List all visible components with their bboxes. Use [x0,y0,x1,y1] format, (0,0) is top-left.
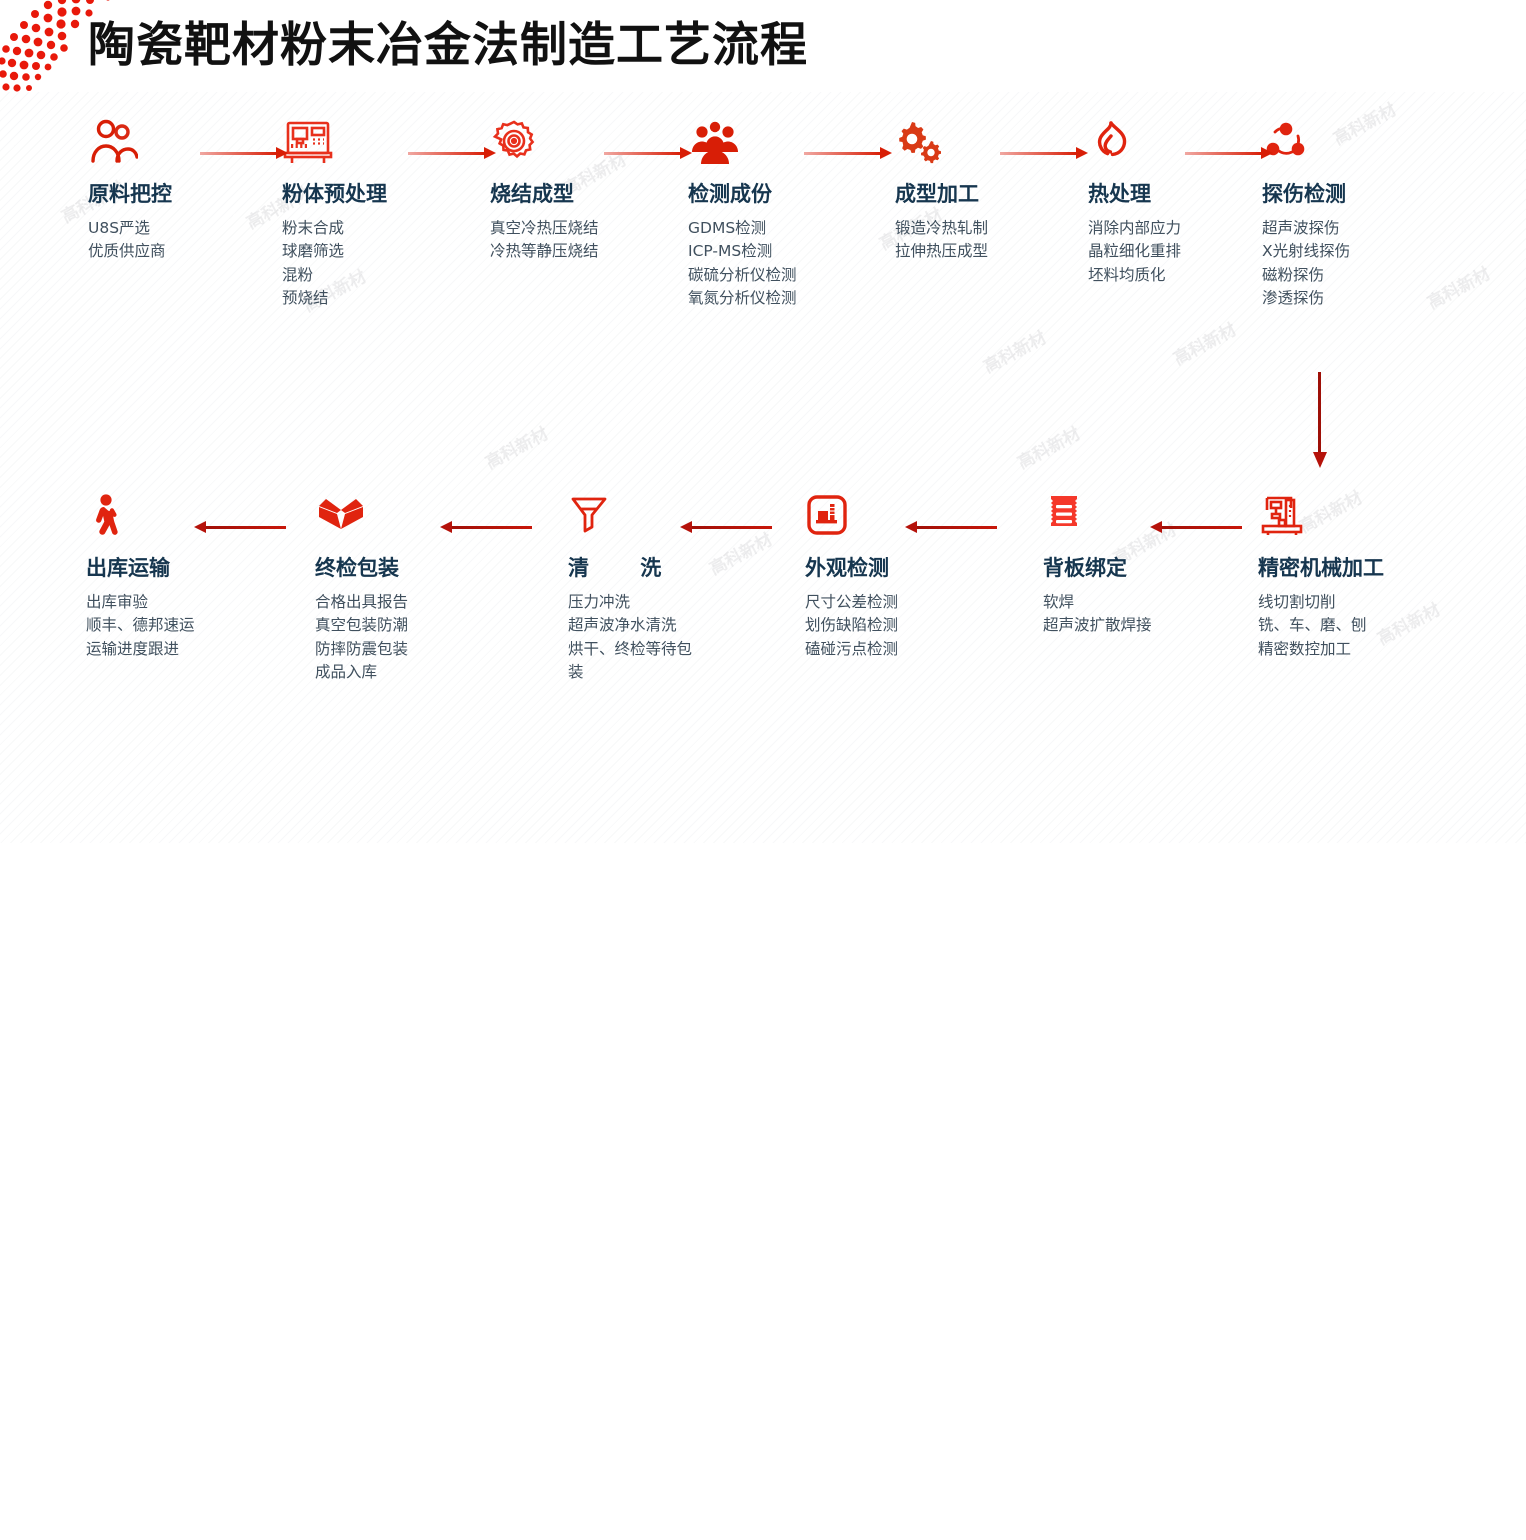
detail-line: 成品入库 [315,661,490,684]
flow-step-title: 背板绑定 [1043,552,1223,582]
flow-step-10[interactable]: 外观检测 尺寸公差检测 划伤缺陷检测 磕碰污点检测 [805,492,985,661]
detail-line: 消除内部应力 [1088,217,1258,240]
detail-line: 精密数控加工 [1258,638,1458,661]
flow-step-3[interactable]: 烧结成型 真空冷热压烧结 冷热等静压烧结 [490,118,690,264]
flow-step-title: 原料把控 [88,178,268,208]
detail-line: 烘干、终检等待包装 [568,638,696,685]
flow-arrow-12-13 [194,521,286,535]
detail-line: 运输进度跟进 [86,638,256,661]
flow-step-details: 合格出具报告 真空包装防潮 防摔防震包装 成品入库 [315,591,490,684]
detail-line: 真空包装防潮 [315,614,490,637]
flow-step-title: 探伤检测 [1262,178,1432,208]
flow-step-title: 检测成份 [688,178,878,208]
background-swoosh [0,255,1526,1505]
flow-step-title: 清 洗 [568,552,743,582]
flow-step-title: 终检包装 [315,552,490,582]
detail-line: 顺丰、德邦速运 [86,614,256,637]
detail-line: 氧氮分析仪检测 [688,287,878,310]
flow-arrow-3-4 [604,147,692,161]
background-swoosh-secondary [0,640,1526,1540]
detail-line: U8S严选 [88,217,268,240]
detail-line: 锻造冷热轧制 [895,217,1075,240]
flow-arrow-4-5 [804,147,892,161]
flow-step-details: 尺寸公差检测 划伤缺陷检测 磕碰污点检测 [805,591,985,661]
detail-line: 渗透探伤 [1262,287,1432,310]
detail-line: 碳硫分析仪检测 [688,264,878,287]
detail-line: 优质供应商 [88,240,268,263]
detail-line: 拉伸热压成型 [895,240,1075,263]
detail-line: ICP-MS检测 [688,240,878,263]
detail-line: 磁粉探伤 [1262,264,1432,287]
flow-arrow-6-7 [1185,147,1273,161]
detail-line: X光射线探伤 [1262,240,1432,263]
flow-step-details: 压力冲洗 超声波净水清洗 烘干、终检等待包装 [568,591,743,684]
flow-step-details: U8S严选 优质供应商 [88,217,268,264]
flow-step-title: 热处理 [1088,178,1258,208]
flow-arrow-5-6 [1000,147,1088,161]
detail-line: 出库审验 [86,591,256,614]
detail-line: 球磨筛选 [282,240,472,263]
detail-line: 晶粒细化重排 [1088,240,1258,263]
detail-line: 超声波扩散焊接 [1043,614,1223,637]
flow-step-title: 成型加工 [895,178,1075,208]
flow-step-5[interactable]: 成型加工 锻造冷热轧制 拉伸热压成型 [895,118,1075,264]
detail-line: 划伤缺陷检测 [805,614,985,637]
detail-line: 真空冷热压烧结 [490,217,690,240]
detail-line: 磕碰污点检测 [805,638,985,661]
flow-arrow-10-11 [680,521,772,535]
three-dots-circle-icon [1262,118,1432,166]
flow-step-title: 外观检测 [805,552,985,582]
flow-step-8[interactable]: 精密机械加工 线切割切削 铣、车、磨、刨 精密数控加工 [1258,492,1458,661]
flow-step-details: 真空冷热压烧结 冷热等静压烧结 [490,217,690,264]
flow-step-6[interactable]: 热处理 消除内部应力 晶粒细化重排 坯料均质化 [1088,118,1258,287]
flow-step-1[interactable]: 原料把控 U8S严选 优质供应商 [88,118,268,264]
flow-step-details: 消除内部应力 晶粒细化重排 坯料均质化 [1088,217,1258,287]
flow-step-13[interactable]: 出库运输 出库审验 顺丰、德邦速运 运输进度跟进 [86,492,256,661]
detail-line: 混粉 [282,264,472,287]
flow-step-title: 粉体预处理 [282,178,472,208]
flow-step-title: 烧结成型 [490,178,690,208]
detail-line: GDMS检测 [688,217,878,240]
detail-line: 合格出具报告 [315,591,490,614]
detail-line: 防摔防震包装 [315,638,490,661]
flow-step-details: 线切割切削 铣、车、磨、刨 精密数控加工 [1258,591,1458,661]
flow-step-details: 软焊 超声波扩散焊接 [1043,591,1223,638]
flow-arrow-9-10 [905,521,997,535]
flow-arrow-2-3 [408,147,496,161]
detail-line: 铣、车、磨、刨 [1258,614,1458,637]
detail-line: 冷热等静压烧结 [490,240,690,263]
watermark: 高科新材 [1012,420,1084,474]
detail-line: 粉末合成 [282,217,472,240]
detail-line: 尺寸公差检测 [805,591,985,614]
detail-line: 超声波净水清洗 [568,614,743,637]
flow-row-bottom: 精密机械加工 线切割切削 铣、车、磨、刨 精密数控加工 背板绑定 软焊 超声波扩… [0,492,1526,722]
flow-arrow-11-12 [440,521,532,535]
flow-arrow-8-9 [1150,521,1242,535]
detail-line: 坯料均质化 [1088,264,1258,287]
cnc-machine-icon [1258,492,1458,540]
detail-line: 压力冲洗 [568,591,743,614]
detail-line: 预烧结 [282,287,472,310]
flow-step-details: 锻造冷热轧制 拉伸热压成型 [895,217,1075,264]
detail-line: 超声波探伤 [1262,217,1432,240]
flow-step-details: 粉末合成 球磨筛选 混粉 预烧结 [282,217,472,310]
detail-line: 软焊 [1043,591,1223,614]
flow-step-details: 出库审验 顺丰、德邦速运 运输进度跟进 [86,591,256,661]
flow-step-9[interactable]: 背板绑定 软焊 超声波扩散焊接 [1043,492,1223,638]
flow-arrow-row-connector [1313,372,1327,468]
flow-row-top: 原料把控 U8S严选 优质供应商 [0,118,1526,348]
detail-line: 线切割切削 [1258,591,1458,614]
flow-arrow-1-2 [200,147,288,161]
flow-step-7[interactable]: 探伤检测 超声波探伤 X光射线探伤 磁粉探伤 渗透探伤 [1262,118,1432,310]
flow-step-title: 出库运输 [86,552,256,582]
watermark: 高科新材 [480,420,552,474]
page-title: 陶瓷靶材粉末冶金法制造工艺流程 [88,6,808,75]
flow-step-details: 超声波探伤 X光射线探伤 磁粉探伤 渗透探伤 [1262,217,1432,310]
flow-step-title: 精密机械加工 [1258,552,1458,582]
flow-step-details: GDMS检测 ICP-MS检测 碳硫分析仪检测 氧氮分析仪检测 [688,217,878,310]
